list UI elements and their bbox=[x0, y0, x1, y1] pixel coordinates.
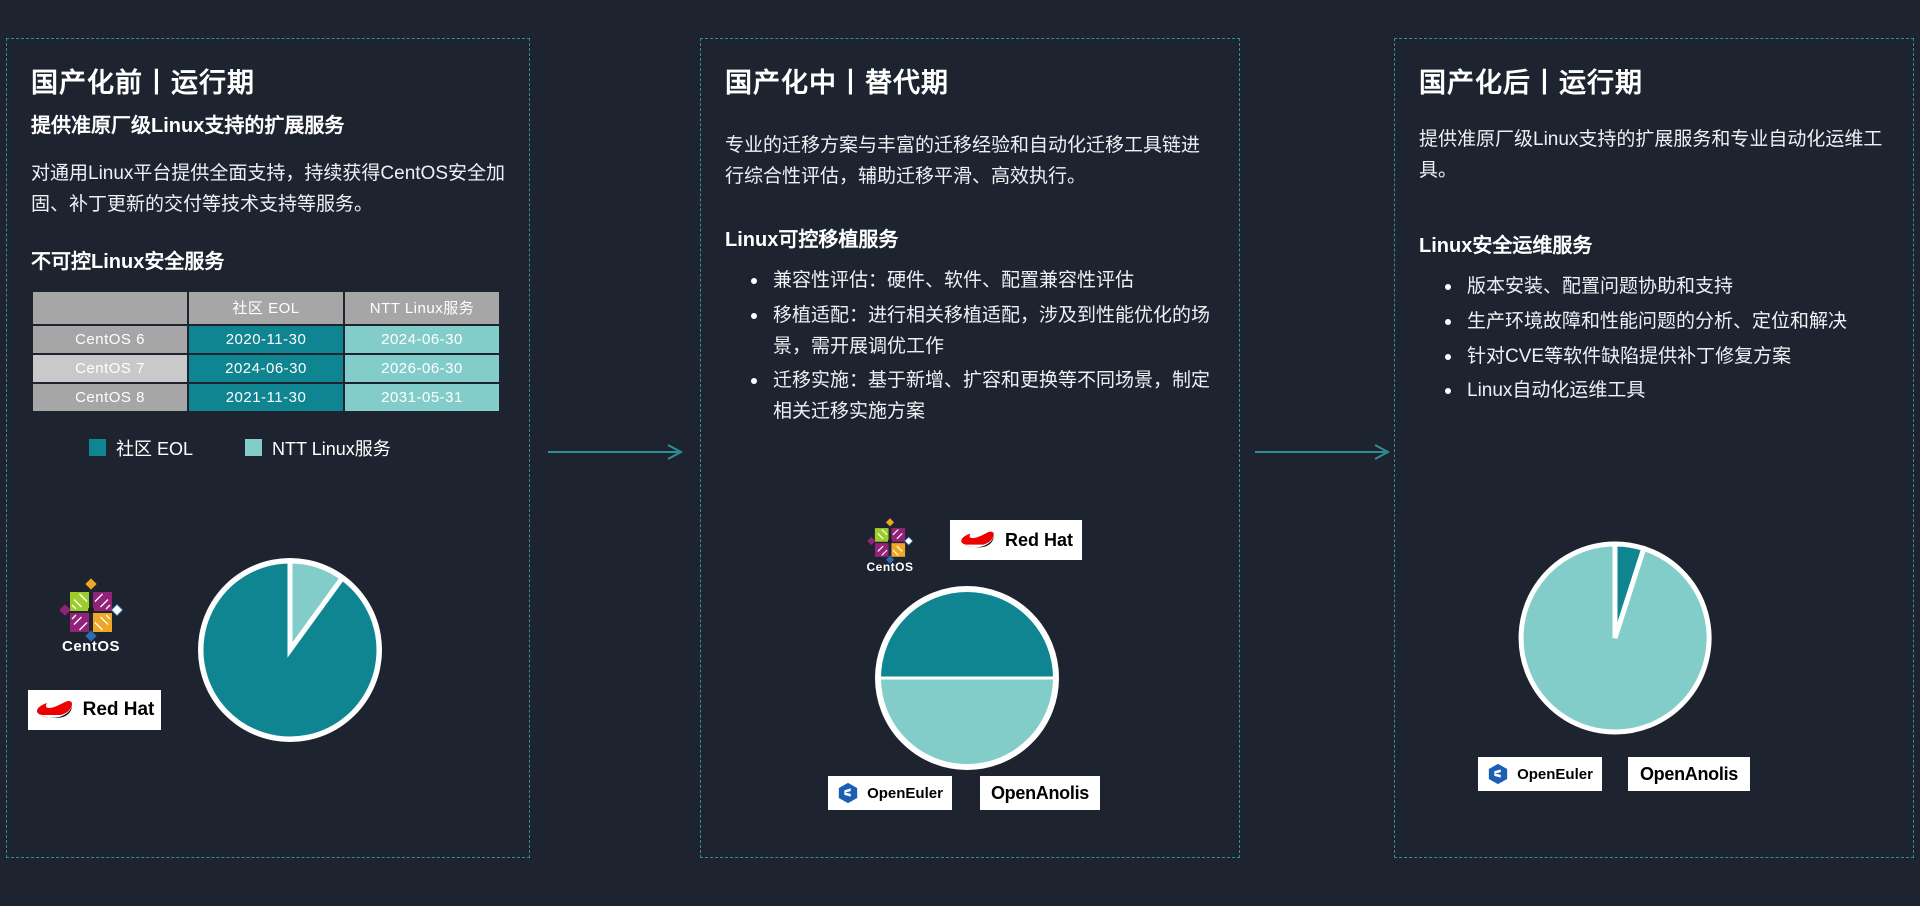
cell-eol: 2020-11-30 bbox=[188, 325, 344, 354]
cell-ntt: 2026-06-30 bbox=[344, 354, 500, 383]
table-row: CentOS 6 2020-11-30 2024-06-30 bbox=[32, 325, 500, 354]
cell-ntt: 2024-06-30 bbox=[344, 325, 500, 354]
table-header-row: 社区 EOL NTT Linux服务 bbox=[32, 291, 500, 325]
redhat-logo-label: Red Hat bbox=[83, 699, 155, 721]
list-item: Linux自动化运维工具 bbox=[1445, 376, 1889, 407]
panel-section-heading: Linux可控移植服务 bbox=[725, 223, 1215, 252]
centos-logo-mark bbox=[867, 518, 913, 564]
cell-os: CentOS 7 bbox=[32, 354, 188, 383]
list-item: 移植适配：进行相关移植适配，涉及到性能优化的场景，需开展调优工作 bbox=[751, 301, 1215, 363]
openanolis-logo-label: OpenAnolis bbox=[1640, 764, 1738, 785]
pie-chart-1 bbox=[180, 540, 400, 760]
table-row: CentOS 7 2024-06-30 2026-06-30 bbox=[32, 354, 500, 383]
list-item: 针对CVE等软件缺陷提供补丁修复方案 bbox=[1445, 342, 1889, 373]
arrow-panel1-to-panel2 bbox=[548, 440, 688, 464]
cell-eol: 2024-06-30 bbox=[188, 354, 344, 383]
table-header-blank bbox=[32, 291, 188, 325]
panel-subtitle: 提供准原厂级Linux支持的扩展服务 bbox=[31, 111, 505, 141]
cell-ntt: 2031-05-31 bbox=[344, 383, 500, 412]
cell-os: CentOS 8 bbox=[32, 383, 188, 412]
list-item: 生产环境故障和性能问题的分析、定位和解决 bbox=[1445, 307, 1889, 338]
pie-chart-3 bbox=[1515, 538, 1715, 738]
openanolis-logo: OpenAnolis bbox=[980, 776, 1100, 810]
openeuler-logo: OpenEuler bbox=[1478, 757, 1602, 791]
table-header-community-eol: 社区 EOL bbox=[188, 291, 344, 325]
arrow-panel2-to-panel3 bbox=[1255, 440, 1395, 464]
panel-body-text: 专业的迁移方案与丰富的迁移经验和自动化迁移工具链进行综合性评估，辅助迁移平滑、高… bbox=[725, 131, 1215, 193]
list-item: 版本安装、配置问题协助和支持 bbox=[1445, 272, 1889, 303]
legend-item-ntt-linux: NTT Linux服务 bbox=[245, 435, 391, 461]
openeuler-logo-label: OpenEuler bbox=[867, 785, 943, 802]
panel-title: 国产化前丨运行期 bbox=[31, 65, 505, 101]
panel-body-text: 提供准原厂级Linux支持的扩展服务和专业自动化运维工具。 bbox=[1419, 125, 1889, 187]
list-item: 迁移实施：基于新增、扩容和更换等不同场景，制定相关迁移实施方案 bbox=[751, 366, 1215, 428]
openanolis-logo-label: OpenAnolis bbox=[991, 783, 1089, 804]
legend-item-community-eol: 社区 EOL bbox=[89, 435, 193, 461]
centos-logo: CentOS bbox=[855, 518, 925, 574]
redhat-logo: Red Hat bbox=[950, 520, 1082, 560]
bullet-list: 兼容性评估：硬件、软件、配置兼容性评估 移植适配：进行相关移植适配，涉及到性能优… bbox=[725, 266, 1215, 428]
table-row: CentOS 8 2021-11-30 2031-05-31 bbox=[32, 383, 500, 412]
redhat-logo-mark bbox=[35, 696, 75, 724]
redhat-logo: Red Hat bbox=[28, 690, 161, 730]
openeuler-logo: OpenEuler bbox=[828, 776, 952, 810]
openanolis-logo: OpenAnolis bbox=[1628, 757, 1750, 791]
bullet-list: 版本安装、配置问题协助和支持 生产环境故障和性能问题的分析、定位和解决 针对CV… bbox=[1419, 272, 1889, 407]
panel-body-text: 对通用Linux平台提供全面支持，持续获得CentOS安全加固、补丁更新的交付等… bbox=[31, 159, 505, 221]
panel-title: 国产化中丨替代期 bbox=[725, 65, 1215, 101]
list-item: 兼容性评估：硬件、软件、配置兼容性评估 bbox=[751, 266, 1215, 297]
panel-title: 国产化后丨运行期 bbox=[1419, 65, 1889, 101]
legend-label: NTT Linux服务 bbox=[272, 435, 391, 461]
panel-section-heading: Linux安全运维服务 bbox=[1419, 229, 1889, 258]
legend-swatch-light bbox=[245, 439, 262, 456]
centos-logo-label: CentOS bbox=[52, 638, 130, 655]
pie-legend: 社区 EOL NTT Linux服务 bbox=[31, 435, 505, 461]
cell-os: CentOS 6 bbox=[32, 325, 188, 354]
centos-logo-mark bbox=[59, 578, 123, 642]
panel-section-heading: 不可控Linux安全服务 bbox=[31, 245, 505, 274]
legend-swatch-dark bbox=[89, 439, 106, 456]
redhat-logo-label: Red Hat bbox=[1005, 530, 1073, 551]
legend-label: 社区 EOL bbox=[116, 435, 193, 461]
eol-table: 社区 EOL NTT Linux服务 CentOS 6 2020-11-30 2… bbox=[31, 290, 501, 413]
cell-eol: 2021-11-30 bbox=[188, 383, 344, 412]
table-header-ntt-linux: NTT Linux服务 bbox=[344, 291, 500, 325]
openeuler-logo-mark bbox=[837, 782, 859, 804]
centos-logo: CentOS bbox=[52, 578, 130, 655]
slide-canvas: 国产化前丨运行期 提供准原厂级Linux支持的扩展服务 对通用Linux平台提供… bbox=[0, 0, 1920, 906]
pie-chart-2 bbox=[875, 586, 1059, 770]
openeuler-logo-label: OpenEuler bbox=[1517, 766, 1593, 783]
redhat-logo-mark bbox=[959, 527, 997, 553]
centos-logo-label: CentOS bbox=[855, 560, 925, 574]
openeuler-logo-mark bbox=[1487, 763, 1509, 785]
